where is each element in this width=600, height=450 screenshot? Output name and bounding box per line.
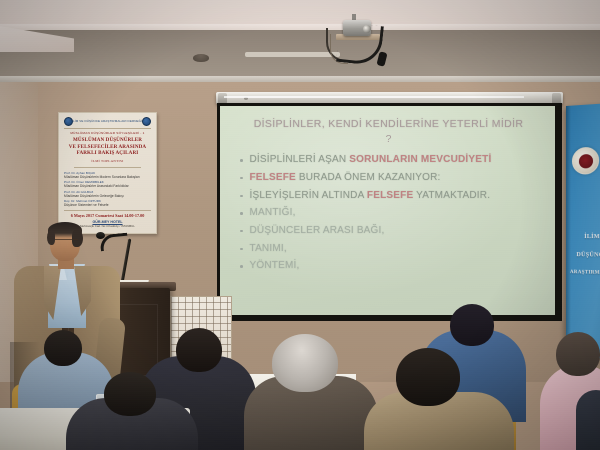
slide-title-question-mark: ?	[236, 133, 541, 145]
poster-title: MÜSLÜMAN DÜŞÜNÜRLER VE FELSEFECİLER ARAS…	[64, 137, 151, 157]
slide-text-run: BURADA ÖNEM KAZANIYOR:	[296, 172, 441, 183]
poster-organization: İLİM VE DÜŞÜNCE ARAŞTIRMALARI DERNEĞİ	[72, 120, 142, 124]
banner-logo-icon	[572, 147, 599, 175]
poster-speaker-list: Prof. Dr. Ayhan BIÇAKMüslüman Düşünürler…	[64, 172, 151, 208]
poster-kicker: MÜSLÜMAN DÜŞÜNÜRLER SÖYLEŞİLERİ - 1	[58, 132, 157, 136]
slide-bullet: MANTIĞI,	[240, 206, 541, 219]
ceiling-air-vent	[245, 52, 340, 57]
attendee-head	[104, 372, 156, 416]
slide-text-run: YÖNTEMİ,	[250, 260, 300, 271]
presenter-hair-side-left	[47, 230, 55, 245]
slide-text-run: FELSEFE	[367, 190, 413, 201]
poster-subtitle: İLMİ TOPLANTISI	[64, 159, 151, 163]
conference-room-photo: DİSİPLİNLER, KENDİ KENDİLERİNE YETERLİ M…	[0, 0, 600, 450]
poster-divider	[74, 167, 141, 168]
slide-bullet: İŞLEYİŞLERİN ALTINDA FELSEFE YATMAKTADIR…	[240, 189, 541, 202]
slide-text-run: TANIMI,	[250, 243, 287, 254]
bullet-dot-icon	[240, 177, 243, 180]
banner-shadow-edge	[566, 106, 571, 357]
poster-header: İLİM VE DÜŞÜNCE ARAŞTIRMALARI DERNEĞİ	[64, 117, 151, 129]
slide-text-run: DİSİPLİNLERİ AŞAN	[250, 154, 350, 165]
attendee-head	[176, 328, 222, 372]
slide-text-run: İŞLEYİŞLERİN ALTINDA	[250, 190, 367, 201]
event-poster: İLİM VE DÜŞÜNCE ARAŞTIRMALARI DERNEĞİ MÜ…	[58, 112, 157, 234]
presenter-glasses-icon	[55, 239, 78, 244]
housing-screw	[244, 97, 248, 100]
slide-bullet: DİSİPLİNLERİ AŞAN SORUNLARIN MEVCUDİYETİ	[240, 153, 541, 166]
slide-bullet: TANIMI,	[240, 242, 541, 255]
slide-bullet: YÖNTEMİ,	[240, 259, 541, 272]
slide-bullet-text: FELSEFE BURADA ÖNEM KAZANIYOR:	[250, 171, 441, 184]
bullet-dot-icon	[240, 212, 243, 215]
slide-bullet-text: TANIMI,	[250, 242, 287, 255]
ceiling-dome-light	[193, 54, 209, 62]
poster-speaker-topic: Müslüman Düşünürlerin Geleceğe Bakışı	[64, 194, 157, 198]
poster-speaker-topic: Müslüman Düşünürler Arasındaki Farklılık…	[64, 184, 157, 188]
slide-bullet: DÜŞÜNCELER ARASI BAĞI,	[240, 224, 541, 237]
slide-bullet-text: DİSİPLİNLERİ AŞAN SORUNLARIN MEVCUDİYETİ	[250, 153, 492, 166]
slide-text-run: YATMAKTADIR.	[413, 190, 490, 201]
slide-title: DİSİPLİNLER, KENDİ KENDİLERİNE YETERLİ M…	[236, 118, 541, 131]
slide-text-run: SORUNLARIN MEVCUDİYETİ	[349, 154, 491, 165]
banner-line-3: ARAŞTIRMALARI	[570, 270, 600, 276]
poster-date: 6 Mayıs 2017 Cumartesi Saat 14.00-17.00	[64, 210, 151, 218]
projected-slide: DİSİPLİNLER, KENDİ KENDİLERİNE YETERLİ M…	[220, 106, 555, 315]
slide-text-run: DÜŞÜNCELER ARASI BAĞI,	[250, 225, 385, 236]
bullet-dot-icon	[240, 195, 243, 198]
slide-bullet: FELSEFE BURADA ÖNEM KAZANIYOR:	[240, 171, 541, 184]
attendee-body	[576, 390, 600, 450]
attendee-head	[272, 334, 338, 392]
poster-speaker-topic: Düşünce Sistemleri ve Felsefe	[64, 203, 157, 207]
banner-line-2: DÜŞÜNCE	[570, 252, 600, 259]
poster-speaker-entry: Doç. Dr. Mehmet ÖZTÜRKDüşünce Sistemleri…	[64, 200, 151, 207]
attendee-head	[44, 330, 82, 366]
poster-speaker-entry: Prof. Dr. Ayhan BIÇAKMüslüman Düşünürler…	[64, 172, 151, 179]
attendee-head	[396, 348, 460, 406]
poster-speaker-topic: Müslüman Düşünürlerin Modern Sorunlara B…	[64, 174, 157, 178]
projection-screen: DİSİPLİNLER, KENDİ KENDİLERİNE YETERLİ M…	[217, 103, 562, 321]
bullet-dot-icon	[240, 159, 243, 162]
slide-bullet-text: MANTIĞI,	[250, 206, 296, 219]
poster-title-line: FARKLI BAKIŞ AÇILARI	[64, 150, 151, 157]
slide-text-run: MANTIĞI,	[250, 207, 296, 218]
slide-bullet-list: DİSİPLİNLERİ AŞAN SORUNLARIN MEVCUDİYETİ…	[236, 153, 541, 272]
bullet-dot-icon	[240, 248, 243, 251]
poster-speaker-entry: Prof. Dr. Ömer DEMİRBİLEKMüslüman Düşünü…	[64, 181, 151, 188]
slide-bullet-text: DÜŞÜNCELER ARASI BAĞI,	[250, 224, 385, 237]
bullet-dot-icon	[240, 230, 243, 233]
poster-title-line: MÜSLÜMAN DÜŞÜNÜRLER	[64, 137, 151, 144]
poster-title-line: VE FELSEFECİLER ARASINDA	[64, 144, 151, 151]
attendee-head	[556, 332, 600, 376]
slide-bullet-text: İŞLEYİŞLERİN ALTINDA FELSEFE YATMAKTADIR…	[250, 189, 491, 202]
slide-bullet-text: YÖNTEMİ,	[250, 259, 300, 272]
attendee-head	[450, 304, 494, 346]
bullet-dot-icon	[240, 265, 243, 268]
roll-up-banner: İLİM DÜŞÜNCE ARAŞTIRMALARI	[566, 103, 600, 359]
banner-line-1: İLİM	[570, 234, 600, 240]
slide-text-run: FELSEFE	[250, 172, 296, 183]
poster-speaker-entry: Prof. Dr. Ali GÜLBUZMüslüman Düşünürleri…	[64, 191, 151, 198]
poster-seal-right-icon	[142, 117, 151, 126]
